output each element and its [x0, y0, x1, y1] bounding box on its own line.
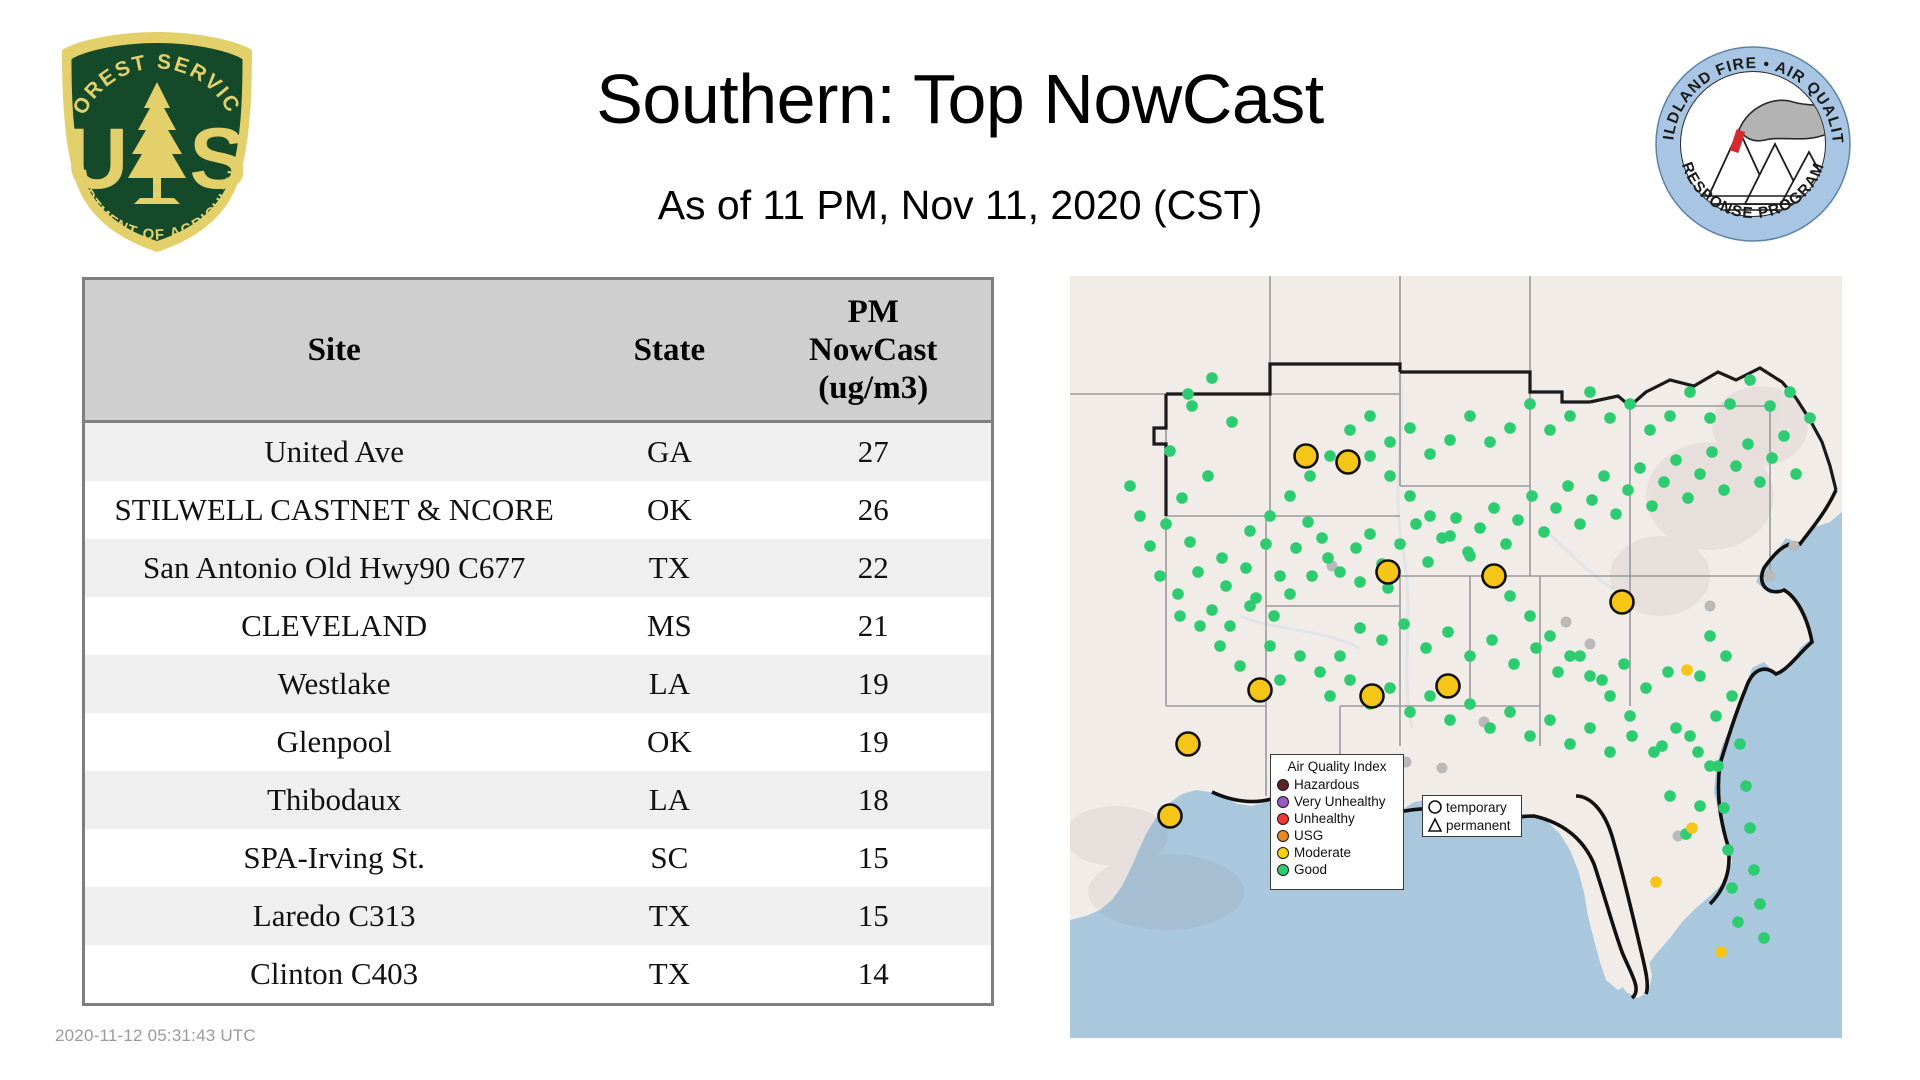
- monitor-marker-good[interactable]: [1364, 528, 1376, 540]
- monitor-marker-good[interactable]: [1364, 410, 1376, 422]
- southern-region-air-quality-map[interactable]: Air Quality Index HazardousVery Unhealth…: [1070, 276, 1842, 1038]
- monitor-marker-offline[interactable]: [1561, 617, 1572, 628]
- aqi-legend-row: Moderate: [1277, 844, 1397, 861]
- monitor-marker-offline[interactable]: [1765, 571, 1776, 582]
- monitor-marker-good[interactable]: [1530, 642, 1542, 654]
- monitor-marker-good[interactable]: [1524, 730, 1536, 742]
- cell-value: 15: [755, 829, 991, 887]
- monitor-marker-moderate[interactable]: [1686, 822, 1698, 834]
- monitor-marker-good[interactable]: [1424, 690, 1436, 702]
- monitor-marker-good[interactable]: [1486, 634, 1498, 646]
- monitor-marker-offline[interactable]: [1585, 639, 1596, 650]
- column-header-pm-nowcast: PM NowCast (ug/m3): [755, 280, 991, 422]
- monitor-marker-good[interactable]: [1344, 674, 1356, 686]
- table-row: Clinton C403TX14: [85, 945, 991, 1003]
- monitor-marker-good[interactable]: [1182, 388, 1194, 400]
- monitor-marker-moderate[interactable]: [1681, 664, 1693, 676]
- top-nowcast-table: Site State PM NowCast (ug/m3) United Ave…: [82, 277, 994, 1006]
- monitor-marker-good[interactable]: [1692, 746, 1704, 758]
- monitor-marker-good[interactable]: [1724, 398, 1736, 410]
- monitor-marker-good[interactable]: [1584, 386, 1596, 398]
- monitor-marker-good[interactable]: [1354, 622, 1366, 634]
- monitor-marker-good[interactable]: [1524, 610, 1536, 622]
- monitor-marker-good[interactable]: [1670, 454, 1682, 466]
- monitor-marker-moderate-top[interactable]: [1361, 685, 1384, 708]
- monitor-marker-good[interactable]: [1442, 626, 1454, 638]
- monitor-marker-good[interactable]: [1314, 666, 1326, 678]
- monitor-marker-good[interactable]: [1664, 790, 1676, 802]
- monitor-marker-good[interactable]: [1464, 650, 1476, 662]
- monitor-marker-good[interactable]: [1626, 730, 1638, 742]
- air-quality-index-legend: Air Quality Index HazardousVery Unhealth…: [1270, 754, 1404, 890]
- aqi-legend-swatch: [1277, 796, 1289, 808]
- aqi-legend-swatch: [1277, 779, 1289, 791]
- monitor-marker-good[interactable]: [1220, 580, 1232, 592]
- monitor-marker-good[interactable]: [1526, 490, 1538, 502]
- aqi-legend-swatch: [1277, 864, 1289, 876]
- monitor-marker-good[interactable]: [1604, 746, 1616, 758]
- monitor-marker-moderate-top[interactable]: [1159, 805, 1182, 828]
- monitor-marker-good[interactable]: [1224, 620, 1236, 632]
- pm-header-line-3: (ug/m3): [759, 369, 987, 407]
- monitor-marker-good[interactable]: [1304, 470, 1316, 482]
- monitor-marker-good[interactable]: [1704, 412, 1716, 424]
- cell-value: 14: [755, 945, 991, 1003]
- monitor-marker-moderate-top[interactable]: [1483, 565, 1506, 588]
- monitor-marker-good[interactable]: [1586, 494, 1598, 506]
- monitor-marker-good[interactable]: [1284, 490, 1296, 502]
- monitor-marker-good[interactable]: [1420, 642, 1432, 654]
- monitor-marker-moderate[interactable]: [1650, 876, 1662, 888]
- monitor-marker-good[interactable]: [1154, 570, 1166, 582]
- aqi-legend-row: Very Unhealthy: [1277, 793, 1397, 810]
- cell-value: 22: [755, 539, 991, 597]
- column-header-site: Site: [85, 280, 583, 422]
- monitor-marker-good[interactable]: [1504, 706, 1516, 718]
- monitor-marker-good[interactable]: [1504, 590, 1516, 602]
- monitor-marker-good[interactable]: [1524, 398, 1536, 410]
- monitor-marker-good[interactable]: [1734, 738, 1746, 750]
- monitor-marker-moderate-top[interactable]: [1177, 733, 1200, 756]
- monitor-marker-good[interactable]: [1764, 400, 1776, 412]
- monitor-marker-good[interactable]: [1758, 932, 1770, 944]
- cell-site: Laredo C313: [85, 887, 583, 945]
- monitor-marker-good[interactable]: [1684, 386, 1696, 398]
- table-row: San Antonio Old Hwy90 C677TX22: [85, 539, 991, 597]
- monitor-marker-moderate-top[interactable]: [1377, 561, 1400, 584]
- monitor-marker-good[interactable]: [1552, 666, 1564, 678]
- monitor-marker-good[interactable]: [1726, 690, 1738, 702]
- cell-value: 15: [755, 887, 991, 945]
- cell-site: Thibodaux: [85, 771, 583, 829]
- aqi-legend-row: USG: [1277, 827, 1397, 844]
- cell-state: SC: [583, 829, 755, 887]
- monitor-marker-good[interactable]: [1176, 492, 1188, 504]
- cell-state: LA: [583, 771, 755, 829]
- legend-label-permanent: permanent: [1446, 818, 1511, 833]
- cell-site: Clinton C403: [85, 945, 583, 1003]
- monitor-marker-good[interactable]: [1730, 460, 1742, 472]
- monitor-marker-good[interactable]: [1550, 502, 1562, 514]
- monitor-marker-good[interactable]: [1718, 484, 1730, 496]
- monitor-marker-good[interactable]: [1306, 570, 1318, 582]
- monitor-marker-good[interactable]: [1322, 552, 1334, 564]
- monitor-marker-good[interactable]: [1424, 510, 1436, 522]
- monitor-marker-good[interactable]: [1766, 452, 1778, 464]
- monitor-marker-good[interactable]: [1464, 410, 1476, 422]
- monitor-marker-good[interactable]: [1484, 436, 1496, 448]
- monitor-marker-good[interactable]: [1670, 722, 1682, 734]
- generated-timestamp: 2020-11-12 05:31:43 UTC: [55, 1026, 256, 1046]
- monitor-marker-good[interactable]: [1754, 898, 1766, 910]
- monitor-marker-good[interactable]: [1784, 386, 1796, 398]
- monitor-marker-good[interactable]: [1192, 566, 1204, 578]
- cell-site: Westlake: [85, 655, 583, 713]
- monitor-marker-good[interactable]: [1610, 508, 1622, 520]
- monitor-marker-good[interactable]: [1302, 516, 1314, 528]
- cell-site: United Ave: [85, 422, 583, 482]
- cell-state: TX: [583, 945, 755, 1003]
- monitor-marker-good[interactable]: [1264, 510, 1276, 522]
- table-row: ThibodauxLA18: [85, 771, 991, 829]
- monitor-marker-moderate-top[interactable]: [1295, 445, 1318, 468]
- monitor-marker-good[interactable]: [1662, 666, 1674, 678]
- monitor-marker-good[interactable]: [1226, 416, 1238, 428]
- monitor-marker-moderate[interactable]: [1715, 946, 1727, 958]
- monitor-marker-good[interactable]: [1778, 430, 1790, 442]
- cell-value: 21: [755, 597, 991, 655]
- slide-root: FOREST SERVICE DEPARTMENT OF AGRICULTURE…: [0, 0, 1920, 1080]
- monitor-type-legend: temporary permanent: [1422, 795, 1522, 837]
- monitor-marker-good[interactable]: [1398, 618, 1410, 630]
- aqi-legend-label: Good: [1294, 862, 1327, 877]
- pm-header-line-2: NowCast: [759, 331, 987, 369]
- monitor-marker-good[interactable]: [1694, 800, 1706, 812]
- cell-state: OK: [583, 481, 755, 539]
- table-row: CLEVELANDMS21: [85, 597, 991, 655]
- monitor-marker-good[interactable]: [1384, 470, 1396, 482]
- monitor-marker-good[interactable]: [1622, 484, 1634, 496]
- monitor-marker-good[interactable]: [1354, 576, 1366, 588]
- monitor-marker-good[interactable]: [1722, 844, 1734, 856]
- monitor-marker-good[interactable]: [1644, 424, 1656, 436]
- monitor-marker-good[interactable]: [1704, 760, 1716, 772]
- monitor-marker-good[interactable]: [1324, 450, 1336, 462]
- monitor-marker-good[interactable]: [1376, 634, 1388, 646]
- column-header-state: State: [583, 280, 755, 422]
- monitor-marker-good[interactable]: [1174, 610, 1186, 622]
- monitor-marker-good[interactable]: [1444, 530, 1456, 542]
- cell-site: San Antonio Old Hwy90 C677: [85, 539, 583, 597]
- monitor-marker-good[interactable]: [1186, 400, 1198, 412]
- monitor-marker-good[interactable]: [1384, 682, 1396, 694]
- monitor-marker-good[interactable]: [1544, 424, 1556, 436]
- monitor-marker-good[interactable]: [1172, 588, 1184, 600]
- monitor-marker-good[interactable]: [1584, 722, 1596, 734]
- aqi-legend-label: Very Unhealthy: [1294, 794, 1386, 809]
- table-row: STILWELL CASTNET & NCOREOK26: [85, 481, 991, 539]
- monitor-marker-good[interactable]: [1384, 436, 1396, 448]
- monitor-marker-good[interactable]: [1624, 398, 1636, 410]
- cell-value: 19: [755, 713, 991, 771]
- monitor-marker-good[interactable]: [1334, 650, 1346, 662]
- aqi-legend-label: Hazardous: [1294, 777, 1359, 792]
- cell-site: Glenpool: [85, 713, 583, 771]
- monitor-marker-good[interactable]: [1444, 434, 1456, 446]
- monitor-marker-good[interactable]: [1504, 422, 1516, 434]
- page-subtitle: As of 11 PM, Nov 11, 2020 (CST): [0, 180, 1920, 230]
- legend-row-temporary: temporary: [1427, 798, 1517, 816]
- monitor-marker-good[interactable]: [1206, 372, 1218, 384]
- monitor-marker-good[interactable]: [1544, 630, 1556, 642]
- legend-row-permanent: permanent: [1427, 816, 1517, 834]
- cell-value: 27: [755, 422, 991, 482]
- monitor-marker-good[interactable]: [1682, 492, 1694, 504]
- page-title: Southern: Top NowCast: [0, 58, 1920, 140]
- monitor-marker-good[interactable]: [1718, 802, 1730, 814]
- cell-state: OK: [583, 713, 755, 771]
- pm-header-line-1: PM: [759, 293, 987, 331]
- monitor-marker-good[interactable]: [1512, 514, 1524, 526]
- monitor-marker-moderate-top[interactable]: [1249, 679, 1272, 702]
- monitor-marker-good[interactable]: [1290, 542, 1302, 554]
- monitor-marker-good[interactable]: [1684, 730, 1696, 742]
- monitor-marker-good[interactable]: [1160, 518, 1172, 530]
- monitor-marker-good[interactable]: [1316, 532, 1328, 544]
- aqi-legend-row: Hazardous: [1277, 776, 1397, 793]
- monitor-marker-good[interactable]: [1364, 450, 1376, 462]
- aqi-legend-label: Unhealthy: [1294, 811, 1355, 826]
- monitor-marker-moderate-top[interactable]: [1437, 675, 1460, 698]
- monitor-marker-good[interactable]: [1274, 674, 1286, 686]
- monitor-marker-good[interactable]: [1124, 480, 1136, 492]
- monitor-marker-good[interactable]: [1410, 518, 1422, 530]
- cell-value: 18: [755, 771, 991, 829]
- table-row: WestlakeLA19: [85, 655, 991, 713]
- monitor-marker-moderate-top[interactable]: [1337, 451, 1360, 474]
- monitor-marker-good[interactable]: [1274, 570, 1286, 582]
- monitor-marker-good[interactable]: [1394, 538, 1406, 550]
- monitor-marker-good[interactable]: [1474, 522, 1486, 534]
- monitor-marker-good[interactable]: [1634, 462, 1646, 474]
- cell-state: TX: [583, 539, 755, 597]
- table-row: Laredo C313TX15: [85, 887, 991, 945]
- monitor-marker-good[interactable]: [1404, 422, 1416, 434]
- table-row: SPA-Irving St.SC15: [85, 829, 991, 887]
- monitor-marker-good[interactable]: [1484, 722, 1496, 734]
- triangle-icon: [1427, 817, 1443, 833]
- circle-icon: [1427, 799, 1443, 815]
- monitor-marker-good[interactable]: [1658, 476, 1670, 488]
- cell-site: STILWELL CASTNET & NCORE: [85, 481, 583, 539]
- monitor-marker-good[interactable]: [1184, 536, 1196, 548]
- monitor-marker-good[interactable]: [1500, 538, 1512, 550]
- monitor-marker-good[interactable]: [1726, 882, 1738, 894]
- monitor-marker-good[interactable]: [1404, 490, 1416, 502]
- monitor-marker-good[interactable]: [1464, 550, 1476, 562]
- monitor-marker-good[interactable]: [1488, 502, 1500, 514]
- cell-site: SPA-Irving St.: [85, 829, 583, 887]
- monitor-marker-good[interactable]: [1584, 670, 1596, 682]
- monitor-marker-good[interactable]: [1706, 446, 1718, 458]
- monitor-marker-good[interactable]: [1618, 658, 1630, 670]
- monitor-marker-good[interactable]: [1508, 658, 1520, 670]
- monitor-marker-good[interactable]: [1334, 566, 1346, 578]
- monitor-marker-good[interactable]: [1234, 660, 1246, 672]
- monitor-marker-good[interactable]: [1444, 714, 1456, 726]
- cell-value: 26: [755, 481, 991, 539]
- monitor-marker-good[interactable]: [1324, 690, 1336, 702]
- aqi-legend-label: USG: [1294, 828, 1323, 843]
- monitor-marker-good[interactable]: [1134, 510, 1146, 522]
- monitor-marker-good[interactable]: [1450, 512, 1462, 524]
- monitor-marker-good[interactable]: [1240, 562, 1252, 574]
- monitor-marker-good[interactable]: [1206, 604, 1218, 616]
- monitor-marker-good[interactable]: [1404, 706, 1416, 718]
- aqi-legend-swatch: [1277, 813, 1289, 825]
- monitor-marker-good[interactable]: [1604, 690, 1616, 702]
- monitor-marker-good[interactable]: [1464, 698, 1476, 710]
- monitor-marker-good[interactable]: [1424, 448, 1436, 460]
- monitor-marker-good[interactable]: [1790, 468, 1802, 480]
- monitor-marker-good[interactable]: [1598, 470, 1610, 482]
- monitor-marker-good[interactable]: [1350, 542, 1362, 554]
- monitor-marker-good[interactable]: [1144, 540, 1156, 552]
- monitor-marker-good[interactable]: [1710, 710, 1722, 722]
- aqi-legend-title: Air Quality Index: [1277, 759, 1397, 774]
- monitor-marker-good[interactable]: [1604, 412, 1616, 424]
- monitor-marker-offline[interactable]: [1789, 541, 1800, 552]
- monitor-marker-good[interactable]: [1694, 468, 1706, 480]
- legend-label-temporary: temporary: [1446, 800, 1507, 815]
- monitor-marker-good[interactable]: [1744, 374, 1756, 386]
- monitor-marker-good[interactable]: [1646, 500, 1658, 512]
- monitor-marker-good[interactable]: [1244, 600, 1256, 612]
- cell-site: CLEVELAND: [85, 597, 583, 655]
- monitor-marker-good[interactable]: [1344, 424, 1356, 436]
- aqi-legend-label: Moderate: [1294, 845, 1351, 860]
- monitor-marker-good[interactable]: [1704, 630, 1716, 642]
- aqi-legend-row: Good: [1277, 861, 1397, 878]
- monitor-marker-good[interactable]: [1260, 538, 1272, 550]
- monitor-marker-good[interactable]: [1664, 410, 1676, 422]
- monitor-marker-good[interactable]: [1284, 588, 1296, 600]
- monitor-marker-good[interactable]: [1202, 470, 1214, 482]
- monitor-marker-good[interactable]: [1214, 640, 1226, 652]
- cell-state: GA: [583, 422, 755, 482]
- table-row: United AveGA27: [85, 422, 991, 482]
- monitor-marker-good[interactable]: [1732, 916, 1744, 928]
- monitor-marker-good[interactable]: [1742, 438, 1754, 450]
- table-header-row: Site State PM NowCast (ug/m3): [85, 280, 991, 422]
- monitor-marker-good[interactable]: [1640, 682, 1652, 694]
- aqi-legend-row: Unhealthy: [1277, 810, 1397, 827]
- monitor-marker-good[interactable]: [1574, 518, 1586, 530]
- monitor-marker-good[interactable]: [1564, 738, 1576, 750]
- monitor-marker-good[interactable]: [1422, 556, 1434, 568]
- monitor-marker-offline[interactable]: [1437, 763, 1448, 774]
- monitor-marker-good[interactable]: [1194, 620, 1206, 632]
- monitor-marker-good[interactable]: [1564, 410, 1576, 422]
- monitor-marker-good[interactable]: [1694, 670, 1706, 682]
- cell-state: MS: [583, 597, 755, 655]
- monitor-marker-good[interactable]: [1574, 650, 1586, 662]
- monitor-marker-good[interactable]: [1164, 445, 1176, 457]
- monitor-marker-good[interactable]: [1804, 412, 1816, 424]
- monitor-marker-offline[interactable]: [1705, 601, 1716, 612]
- monitor-marker-good[interactable]: [1268, 610, 1280, 622]
- monitor-marker-good[interactable]: [1648, 746, 1660, 758]
- monitor-marker-good[interactable]: [1544, 714, 1556, 726]
- cell-value: 19: [755, 655, 991, 713]
- table-row: GlenpoolOK19: [85, 713, 991, 771]
- monitor-marker-good[interactable]: [1720, 650, 1732, 662]
- aqi-legend-swatch: [1277, 847, 1289, 859]
- monitor-marker-good[interactable]: [1754, 476, 1766, 488]
- monitor-marker-good[interactable]: [1216, 552, 1228, 564]
- aqi-legend-swatch: [1277, 830, 1289, 842]
- wildland-fire-air-quality-response-program-logo: WILDLAND FIRE • AIR QUALITY RESPONSE PRO…: [1653, 44, 1853, 244]
- monitor-marker-good[interactable]: [1624, 710, 1636, 722]
- monitor-marker-moderate-top[interactable]: [1611, 591, 1634, 614]
- monitor-marker-good[interactable]: [1748, 864, 1760, 876]
- monitor-marker-good[interactable]: [1744, 822, 1756, 834]
- monitor-marker-good[interactable]: [1538, 526, 1550, 538]
- monitor-marker-good[interactable]: [1264, 640, 1276, 652]
- cell-state: TX: [583, 887, 755, 945]
- monitor-marker-good[interactable]: [1740, 780, 1752, 792]
- cell-state: LA: [583, 655, 755, 713]
- monitor-marker-good[interactable]: [1294, 650, 1306, 662]
- monitor-marker-good[interactable]: [1564, 650, 1576, 662]
- monitor-marker-good[interactable]: [1562, 480, 1574, 492]
- monitor-marker-good[interactable]: [1596, 674, 1608, 686]
- monitor-marker-good[interactable]: [1244, 525, 1256, 537]
